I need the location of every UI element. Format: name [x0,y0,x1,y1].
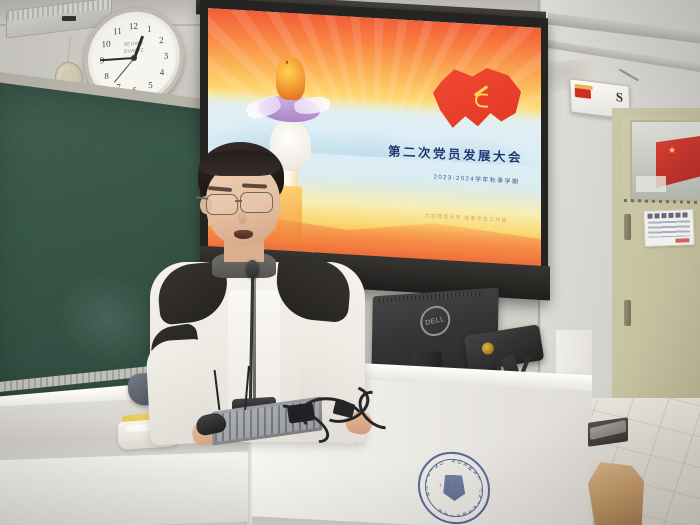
wall-device-label [575,88,591,99]
clock-numeral: 11 [111,26,123,37]
seal-char: G [437,460,444,466]
clock-numeral: 8 [101,71,113,82]
camera-lens-icon [481,342,495,356]
seal-char: S [456,514,462,517]
chalkboard-smudge [56,265,159,374]
clock-second-hand [113,58,134,83]
notice-body [648,220,691,237]
nose [238,210,247,224]
classroom-photo-scene: BEIJING QUARTZ 121234567891011 [0,0,700,525]
hair-fringe [200,150,280,176]
eyeglasses-left-lens [206,194,238,215]
clock-numeral: 3 [160,50,172,61]
clock-numeral: 12 [127,21,139,32]
seal-char: B [426,492,431,498]
dell-logo-icon: DELL [420,305,451,337]
seal-char: I [450,514,456,517]
monitor-vent [379,291,481,303]
seal-char: E [425,485,429,491]
flag-star-icon: ★ [668,146,676,154]
door-hinge-upper [624,214,631,240]
seal-year: 1902 [439,483,469,489]
clock-numeral: 10 [100,38,112,49]
door-hinge-lower [624,300,631,326]
notice-heading [647,212,689,218]
vent-opening [62,16,76,21]
university-seal: BEIJINGNORMALUNIVERSITY 1902 [417,451,491,525]
clock-numeral: 1 [143,24,155,35]
seal-char: R [462,511,469,516]
wall-device-mark: S [615,89,623,106]
clock-center-pin [131,55,137,61]
microphone-head-icon [246,260,259,278]
mouth [234,230,253,239]
seal-char: J [426,473,431,479]
clock-numeral: 4 [156,67,168,78]
eyeglasses-bridge [235,200,242,202]
huabiao-beast-icon [276,56,305,101]
door-window: ★ [630,120,700,202]
huabiao-beast-detail [286,61,289,64]
wooden-stool [588,462,644,525]
cable-adapter-1 [287,402,315,423]
notice-stamp [675,238,689,242]
seal-char: L [476,474,481,481]
seal-char: N [478,492,484,499]
dell-logo-text: DELL [425,316,445,327]
corridor-panel [636,176,666,192]
clock-numeral: 2 [155,35,167,46]
chalk-ledge-front [0,451,248,525]
clock-numeral: 5 [144,79,156,90]
seal-char: I [424,479,427,485]
door-notice-poster [643,209,694,247]
party-emblem-icon [471,86,494,108]
seal-char: T [443,511,450,517]
